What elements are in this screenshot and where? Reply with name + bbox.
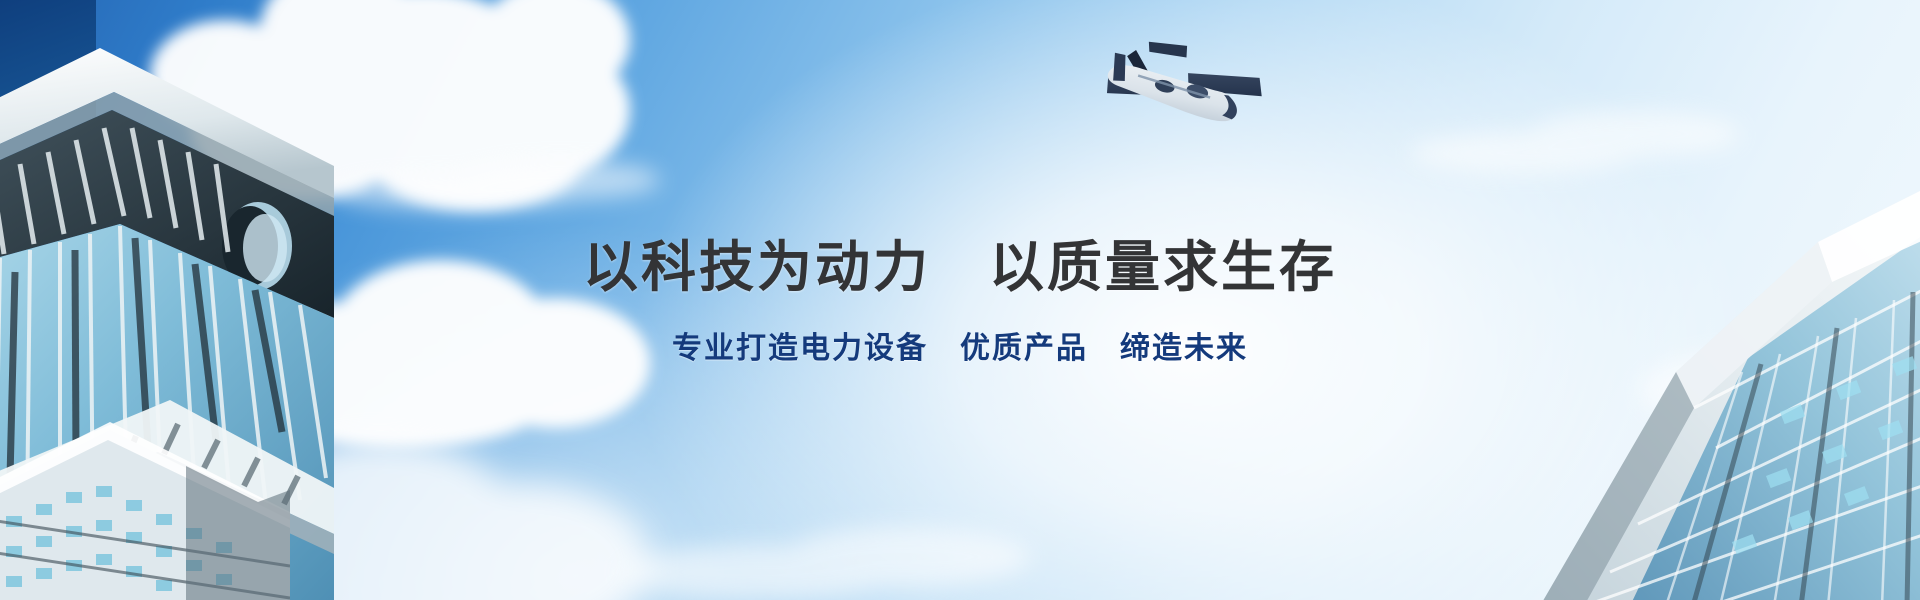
cloud-cluster-upper-left — [150, 0, 710, 260]
cloud-wisp-top — [330, 150, 670, 230]
skyscraper-left-lower — [0, 370, 290, 600]
cloud-cluster-lower-left — [60, 392, 680, 600]
banner-headline: 以科技为动力 以质量求生存 — [0, 236, 1920, 300]
airplane-icon — [1092, 8, 1264, 168]
banner-text-block: 以科技为动力 以质量求生存 专业打造电力设备 优质产品 缔造未来 — [0, 236, 1920, 367]
hero-banner: 以科技为动力 以质量求生存 专业打造电力设备 优质产品 缔造未来 — [0, 0, 1920, 600]
cloud-wisp-right — [1410, 92, 1740, 202]
banner-subtitle: 专业打造电力设备 优质产品 缔造未来 — [0, 331, 1920, 367]
cloud-wisp-bottom-center — [620, 505, 1040, 600]
corner-accent-patch — [0, 0, 96, 158]
